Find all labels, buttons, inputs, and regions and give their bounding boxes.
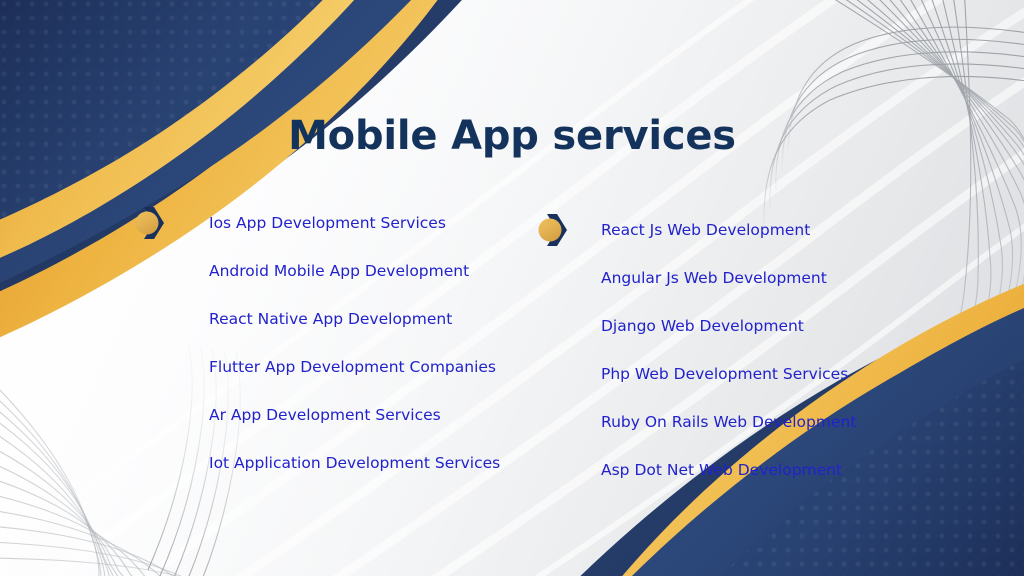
list-item[interactable]: Android Mobile App Development: [130, 264, 500, 280]
slide-title: Mobile App services: [0, 113, 1024, 159]
slide-canvas: Mobile App services Ios App Development …: [0, 0, 1024, 576]
list-item[interactable]: Asp Dot Net Web Development: [533, 463, 856, 479]
column-right-header: [533, 211, 856, 251]
list-item[interactable]: Iot Application Development Services: [130, 456, 500, 472]
services-column-left: Ios App Development Services Android Mob…: [130, 204, 500, 472]
list-item[interactable]: Php Web Development Services: [533, 367, 856, 383]
list-item[interactable]: Angular Js Web Development: [533, 271, 856, 287]
list-item[interactable]: Ar App Development Services: [130, 408, 500, 424]
list-item[interactable]: Ruby On Rails Web Development: [533, 415, 856, 431]
list-item[interactable]: Flutter App Development Companies: [130, 360, 500, 376]
gold-circle-chevron-icon: [533, 211, 571, 249]
services-list-left: Ios App Development Services Android Mob…: [130, 216, 500, 472]
list-item[interactable]: React Native App Development: [130, 312, 500, 328]
list-item[interactable]: Django Web Development: [533, 319, 856, 335]
gold-circle-chevron-icon: [130, 204, 168, 242]
column-left-header: [130, 204, 500, 244]
services-list-right: React Js Web Development Angular Js Web …: [533, 223, 856, 479]
services-column-right: React Js Web Development Angular Js Web …: [533, 211, 856, 479]
